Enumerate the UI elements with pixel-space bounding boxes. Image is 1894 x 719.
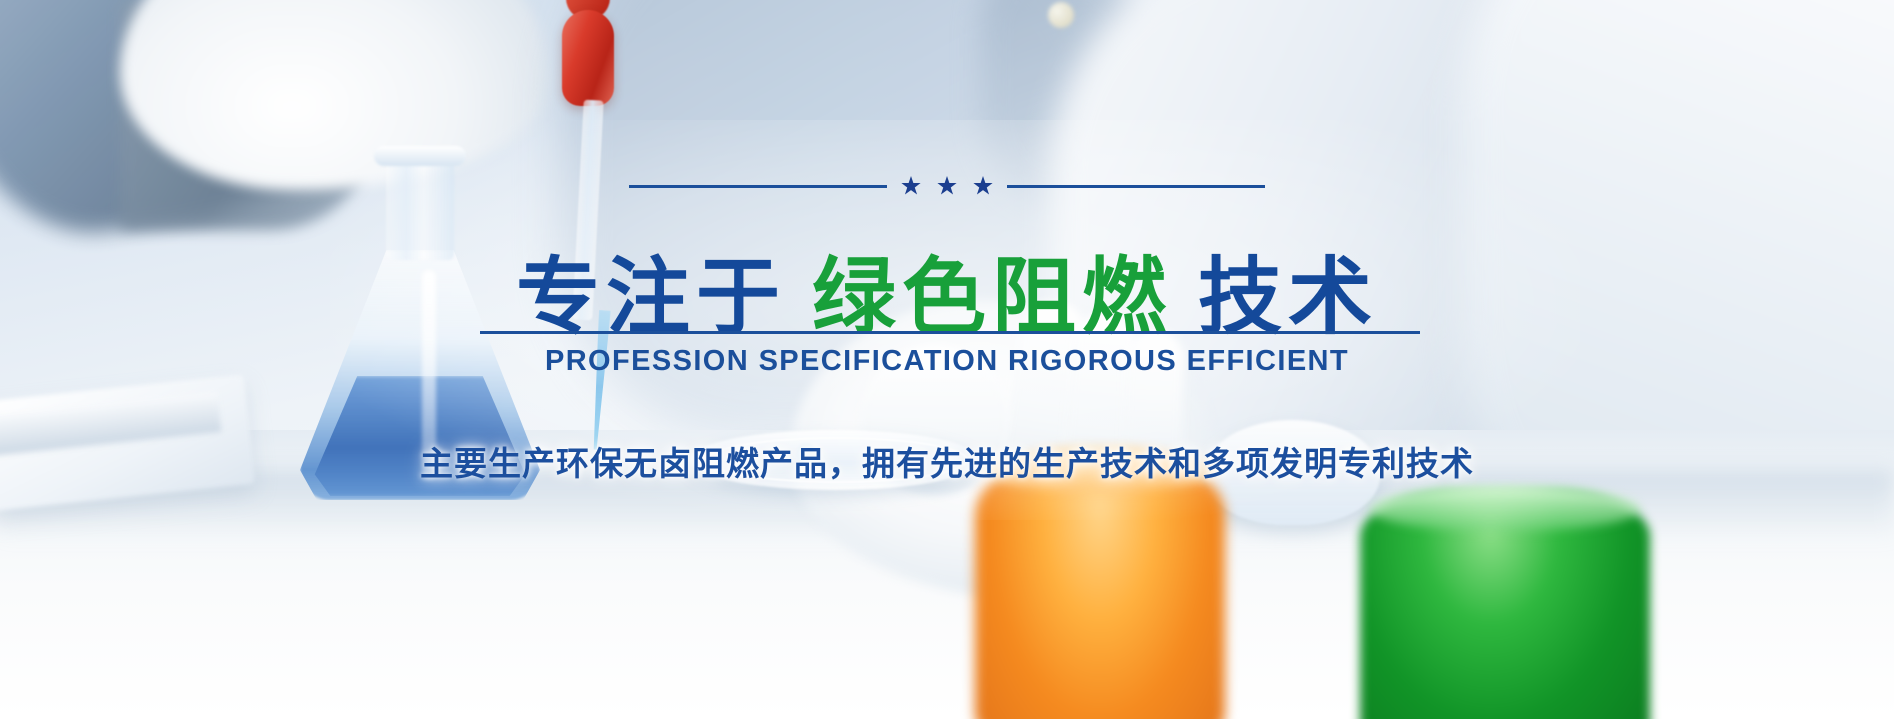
description-chinese: 主要生产环保无卤阻燃产品，拥有先进的生产技术和多项发明专利技术 xyxy=(0,437,1894,485)
star-group xyxy=(901,176,993,196)
page-title: 专注于绿色阻燃技术 xyxy=(0,254,1894,341)
banner-content: 专注于绿色阻燃技术 PROFESSION SPECIFICATION RIGOR… xyxy=(0,0,1894,719)
star-icon xyxy=(901,176,921,196)
rule-line-left xyxy=(629,185,887,188)
headline-underline xyxy=(480,331,1420,334)
hero-banner: 专注于绿色阻燃技术 PROFESSION SPECIFICATION RIGOR… xyxy=(0,0,1894,719)
subtitle-english: PROFESSION SPECIFICATION RIGOROUS EFFICI… xyxy=(0,345,1894,378)
decorative-rule-row xyxy=(0,176,1894,196)
star-icon xyxy=(937,176,957,196)
star-icon xyxy=(973,176,993,196)
rule-line-right xyxy=(1007,185,1265,188)
